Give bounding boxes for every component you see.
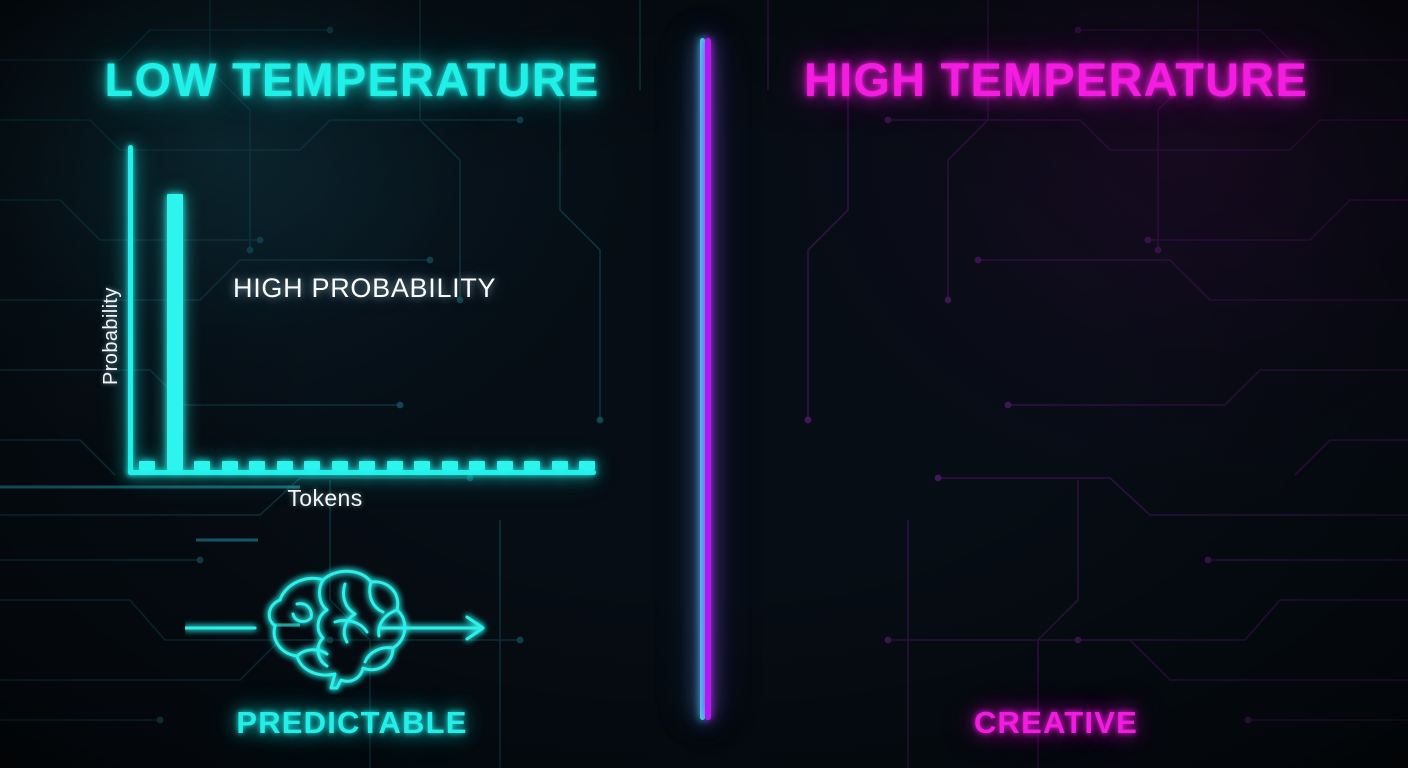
bar <box>359 461 375 470</box>
bar <box>304 461 320 470</box>
low-temperature-title: LOW TEMPERATURE <box>0 52 704 107</box>
infographic-canvas: LOW TEMPERATURE Probability Tokens HIGH … <box>0 0 1408 768</box>
brain-arrow-straight-icon <box>185 560 505 695</box>
low-temperature-panel: LOW TEMPERATURE Probability Tokens HIGH … <box>0 0 704 768</box>
high-probability-annotation: HIGH PROBABILITY <box>233 273 496 304</box>
bar <box>552 461 568 470</box>
creative-footer-label: CREATIVE <box>704 705 1408 741</box>
bar <box>249 461 265 470</box>
bar <box>442 461 458 470</box>
bar <box>497 461 513 470</box>
high-temperature-title: HIGH TEMPERATURE <box>704 52 1408 107</box>
bar <box>579 461 595 470</box>
bar <box>387 461 403 470</box>
bar <box>194 461 210 470</box>
x-axis-line-low <box>128 470 596 475</box>
bar <box>139 461 155 470</box>
bar <box>167 194 183 470</box>
divider-purple-stripe <box>705 38 711 720</box>
bar <box>524 461 540 470</box>
bar <box>414 461 430 470</box>
high-temperature-panel: HIGH TEMPERATURE Probability Tokens FLAT… <box>704 0 1408 768</box>
y-axis-line-low <box>128 145 133 475</box>
bar <box>222 461 238 470</box>
predictable-footer-label: PREDICTABLE <box>0 705 704 741</box>
bar <box>469 461 485 470</box>
center-divider <box>700 38 712 720</box>
x-axis-label-low: Tokens <box>60 485 590 512</box>
bar <box>332 461 348 470</box>
bar <box>277 461 293 470</box>
low-temperature-chart: Probability Tokens HIGH PROBABILITY <box>78 145 608 485</box>
y-axis-label-low: Probability <box>100 287 123 385</box>
